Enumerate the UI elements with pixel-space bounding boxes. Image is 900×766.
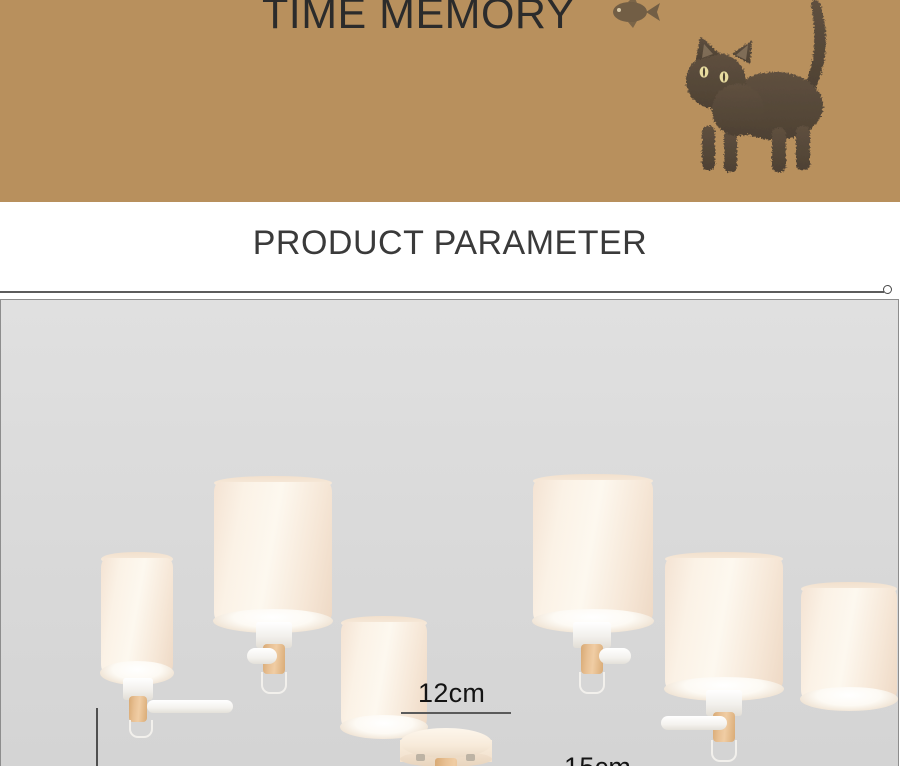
canopy-disc <box>400 728 492 758</box>
lamp-joint-white <box>247 648 277 664</box>
lamp-wire <box>129 720 153 738</box>
divider-end-dot-icon <box>883 285 892 294</box>
canopy-screw <box>416 754 425 761</box>
dimension-bar-total-height <box>96 708 98 766</box>
shade-body <box>214 482 332 622</box>
lamp-shade <box>101 558 173 674</box>
banner-title: TIME MEMORY <box>262 0 575 39</box>
lamp-shade <box>533 480 653 622</box>
wood-socket-holder <box>129 696 147 722</box>
cat-illustration-icon <box>680 0 900 188</box>
section-divider <box>0 291 884 293</box>
lamp-arm-white <box>661 716 727 730</box>
lamp-wire <box>261 672 287 694</box>
wooden-stem <box>435 758 457 766</box>
shade-body <box>533 480 653 622</box>
shade-bottom-opening <box>800 687 898 711</box>
section-title: PRODUCT PARAMETER <box>0 224 900 263</box>
shade-body <box>801 588 897 700</box>
hero-banner: TIME MEMORY <box>0 0 900 202</box>
dimension-label-canopy-width: 12cm <box>418 678 485 709</box>
lamp-shade <box>665 558 783 690</box>
shade-body <box>665 558 783 690</box>
canopy-screw <box>466 754 475 761</box>
lamp-arm-white <box>147 700 233 713</box>
product-image-panel: 12cm 15cm 13cm 38cm <box>0 299 899 766</box>
dimension-label-shade-width: 15cm <box>564 752 631 766</box>
lamp-wire <box>711 740 737 762</box>
lamp-wire <box>579 672 605 694</box>
shade-body <box>101 558 173 674</box>
lamp-shade <box>801 588 897 700</box>
fish-charm-icon <box>600 0 660 34</box>
lamp-joint-white <box>599 648 631 664</box>
dimension-bar-canopy-width <box>401 712 511 714</box>
lamp-shade <box>214 482 332 622</box>
